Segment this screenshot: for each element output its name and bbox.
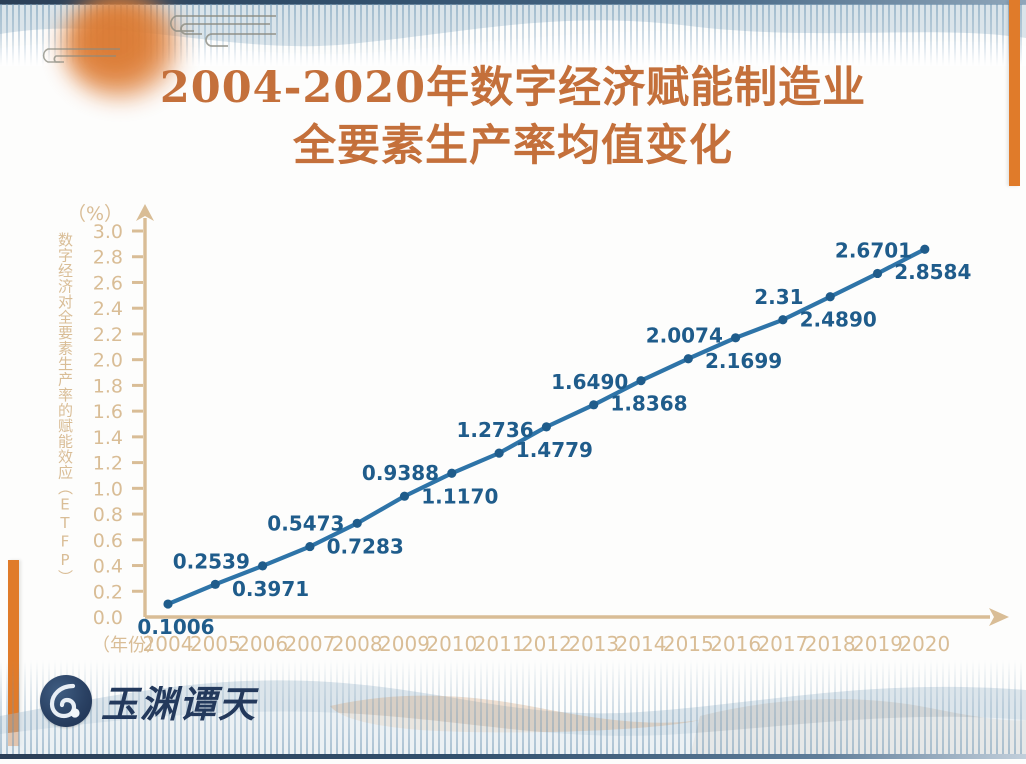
data-point-marker [542,422,551,431]
data-point-marker [211,580,220,589]
data-point-label: 1.6490 [551,370,628,394]
data-point-marker [826,292,835,301]
y-tick-label: 0.2 [93,581,123,603]
title-line-2: 全要素生产率均值变化 [0,120,1026,172]
x-tick-label: 2008 [332,632,383,656]
brand-name: 玉渊谭天 [101,674,257,728]
x-tick-label: 2014 [616,632,667,656]
bottom-navy-strip [0,754,1026,759]
data-point-label: 0.1006 [137,615,214,639]
x-tick-label: 2009 [379,632,430,656]
y-tick-label: 1.6 [93,401,123,423]
data-point-label: 2.4890 [800,308,877,332]
y-tick-label: 2.2 [93,324,123,346]
y-tick-label: 1.4 [93,427,123,449]
data-point-label: 2.0074 [646,324,723,348]
data-point-marker [305,542,314,551]
data-point-label: 1.4779 [516,438,593,462]
x-tick-label: 2011 [474,632,525,656]
data-point-label: 1.1170 [421,484,498,508]
y-unit-label: （%） [67,203,123,225]
x-tick-label: 2013 [568,632,619,656]
data-point-marker [636,376,645,385]
page-title: 2004-2020年数字经济赋能制造业 全要素生产率均值变化 [0,62,1026,173]
x-tick-label: 2017 [757,632,808,656]
y-tick-label: 0.8 [93,504,123,526]
data-point-marker [400,492,409,501]
data-point-marker [778,315,787,324]
x-tick-label: 2019 [852,632,903,656]
y-tick-label: 2.4 [93,298,123,320]
data-point-label: 2.6701 [835,238,912,262]
brand-emblem-icon [40,675,92,727]
data-point-label: 0.7283 [327,534,404,558]
x-tick-label: 2016 [710,632,761,656]
slide-canvas: 2004-2020年数字经济赋能制造业 全要素生产率均值变化 数字经济对全要素生… [0,0,1026,764]
data-point-marker [163,599,172,608]
brand-logo: 玉渊谭天 [40,674,257,728]
y-tick-label: 1.2 [93,453,123,475]
data-point-marker [589,400,598,409]
y-tick-label: 2.6 [93,272,123,294]
y-tick-label: 0.4 [93,556,123,578]
data-point-marker [495,449,504,458]
x-tick-label: 2006 [237,632,288,656]
y-tick-label: 0.6 [93,530,123,552]
x-tick-label: 2015 [663,632,714,656]
data-point-marker [731,333,740,342]
y-tick-label: 1.0 [93,478,123,500]
data-point-marker [447,469,456,478]
y-tick-label: 0.0 [93,607,123,629]
data-point-label: 2.31 [754,285,803,309]
data-point-label: 2.1699 [705,349,782,373]
data-point-label: 1.8368 [610,392,687,416]
y-axis-title: 数字经济对全要素生产率的赋能效应（ETFP） [46,232,72,632]
data-point-marker [353,519,362,528]
x-tick-label: 2018 [805,632,856,656]
data-point-marker [258,561,267,570]
y-tick-label: 2.8 [93,247,123,269]
title-line-1: 2004-2020年数字经济赋能制造业 [0,62,1026,114]
data-point-marker [873,269,882,278]
x-tick-label: 2012 [521,632,572,656]
x-tick-label: 2007 [284,632,335,656]
data-point-marker [920,245,929,254]
line-chart: 0.00.20.40.60.81.01.21.41.61.82.02.22.42… [0,196,1026,666]
y-tick-label: 2.0 [93,350,123,372]
x-tick-label: 2010 [426,632,477,656]
x-tick-label: 2020 [899,632,950,656]
data-point-label: 0.9388 [362,461,439,485]
data-point-label: 2.8584 [894,260,971,284]
data-point-marker [684,354,693,363]
data-point-label: 0.2539 [173,549,250,573]
data-point-label: 0.5473 [267,512,344,536]
data-point-label: 0.3971 [232,577,309,601]
y-tick-label: 1.8 [93,375,123,397]
